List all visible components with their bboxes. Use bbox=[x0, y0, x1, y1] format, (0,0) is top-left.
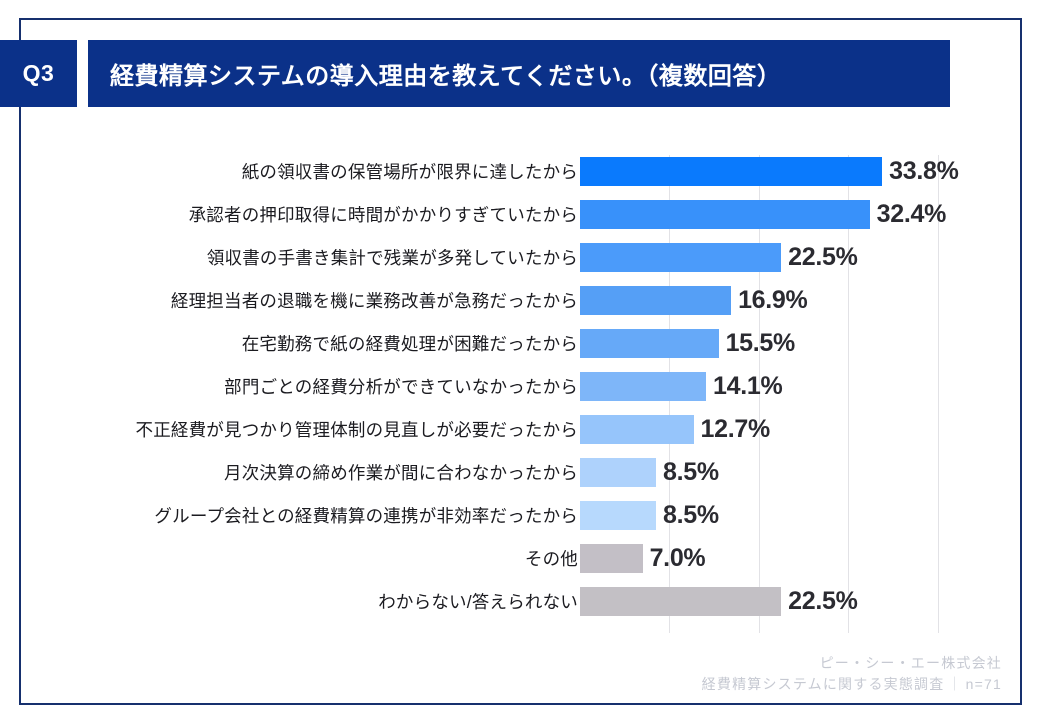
chart-row: 承認者の押印取得に時間がかかりすぎていたから32.4% bbox=[0, 193, 1040, 236]
bar-group: 32.4% bbox=[580, 193, 946, 236]
bar bbox=[580, 157, 882, 186]
bar-value-label: 8.5% bbox=[663, 458, 719, 487]
bar-group: 8.5% bbox=[580, 494, 719, 537]
bar-value-label: 12.7% bbox=[701, 415, 770, 444]
bar bbox=[580, 587, 781, 616]
chart-row: 部門ごとの経費分析ができていなかったから14.1% bbox=[0, 365, 1040, 408]
footer-survey-line: 経費精算システムに関する実態調査｜n=71 bbox=[702, 674, 1002, 696]
bar bbox=[580, 372, 706, 401]
category-label: 領収書の手書き集計で残業が多発していたから bbox=[0, 236, 1040, 279]
footer-survey: 経費精算システムに関する実態調査 bbox=[702, 676, 945, 692]
chart-row: 在宅勤務で紙の経費処理が困難だったから15.5% bbox=[0, 322, 1040, 365]
chart-footer: ピー・シー・エー株式会社 経費精算システムに関する実態調査｜n=71 bbox=[702, 653, 1002, 696]
footer-company: ピー・シー・エー株式会社 bbox=[702, 653, 1002, 675]
bar-value-label: 14.1% bbox=[713, 372, 782, 401]
chart-row: グループ会社との経費精算の連携が非効率だったから8.5% bbox=[0, 494, 1040, 537]
bar-value-label: 32.4% bbox=[877, 200, 946, 229]
header-row: Q3 経費精算システムの導入理由を教えてください。（複数回答） bbox=[0, 40, 950, 107]
bar-value-label: 7.0% bbox=[650, 544, 706, 573]
category-label: その他 bbox=[0, 537, 1040, 580]
footer-sample-size: n=71 bbox=[966, 676, 1002, 692]
bar-group: 33.8% bbox=[580, 150, 959, 193]
category-label: 経理担当者の退職を機に業務改善が急務だったから bbox=[0, 279, 1040, 322]
title-bar: 経費精算システムの導入理由を教えてください。（複数回答） bbox=[88, 40, 950, 107]
page-title: 経費精算システムの導入理由を教えてください。（複数回答） bbox=[88, 56, 781, 91]
bar-value-label: 16.9% bbox=[738, 286, 807, 315]
bar-value-label: 33.8% bbox=[889, 157, 958, 186]
bar-chart: 紙の領収書の保管場所が限界に達したから33.8%承認者の押印取得に時間がかかりす… bbox=[0, 150, 1040, 640]
bar-group: 22.5% bbox=[580, 580, 858, 623]
category-label: わからない/答えられない bbox=[0, 580, 1040, 623]
chart-row: 月次決算の締め作業が間に合わなかったから8.5% bbox=[0, 451, 1040, 494]
bar-group: 14.1% bbox=[580, 365, 782, 408]
bar bbox=[580, 200, 870, 229]
bar bbox=[580, 243, 781, 272]
bar-group: 12.7% bbox=[580, 408, 770, 451]
bar-value-label: 22.5% bbox=[788, 243, 857, 272]
chart-row: 経理担当者の退職を機に業務改善が急務だったから16.9% bbox=[0, 279, 1040, 322]
category-label: グループ会社との経費精算の連携が非効率だったから bbox=[0, 494, 1040, 537]
category-label: 在宅勤務で紙の経費処理が困難だったから bbox=[0, 322, 1040, 365]
category-label: 部門ごとの経費分析ができていなかったから bbox=[0, 365, 1040, 408]
bar-value-label: 15.5% bbox=[726, 329, 795, 358]
bar bbox=[580, 329, 719, 358]
bar-group: 8.5% bbox=[580, 451, 719, 494]
bar-value-label: 8.5% bbox=[663, 501, 719, 530]
bar bbox=[580, 544, 643, 573]
bar-group: 7.0% bbox=[580, 537, 705, 580]
bar bbox=[580, 286, 731, 315]
footer-separator: ｜ bbox=[944, 676, 965, 692]
chart-row: わからない/答えられない22.5% bbox=[0, 580, 1040, 623]
bar-group: 16.9% bbox=[580, 279, 807, 322]
category-label: 月次決算の締め作業が間に合わなかったから bbox=[0, 451, 1040, 494]
chart-row: 紙の領収書の保管場所が限界に達したから33.8% bbox=[0, 150, 1040, 193]
category-label: 不正経費が見つかり管理体制の見直しが必要だったから bbox=[0, 408, 1040, 451]
chart-row: その他7.0% bbox=[0, 537, 1040, 580]
question-number-badge: Q3 bbox=[0, 40, 77, 107]
bar bbox=[580, 501, 656, 530]
chart-rows: 紙の領収書の保管場所が限界に達したから33.8%承認者の押印取得に時間がかかりす… bbox=[0, 150, 1040, 623]
chart-row: 領収書の手書き集計で残業が多発していたから22.5% bbox=[0, 236, 1040, 279]
bar bbox=[580, 458, 656, 487]
bar bbox=[580, 415, 694, 444]
bar-group: 22.5% bbox=[580, 236, 858, 279]
chart-row: 不正経費が見つかり管理体制の見直しが必要だったから12.7% bbox=[0, 408, 1040, 451]
slide-canvas: Q3 経費精算システムの導入理由を教えてください。（複数回答） 紙の領収書の保管… bbox=[0, 0, 1040, 720]
bar-group: 15.5% bbox=[580, 322, 795, 365]
bar-value-label: 22.5% bbox=[788, 587, 857, 616]
